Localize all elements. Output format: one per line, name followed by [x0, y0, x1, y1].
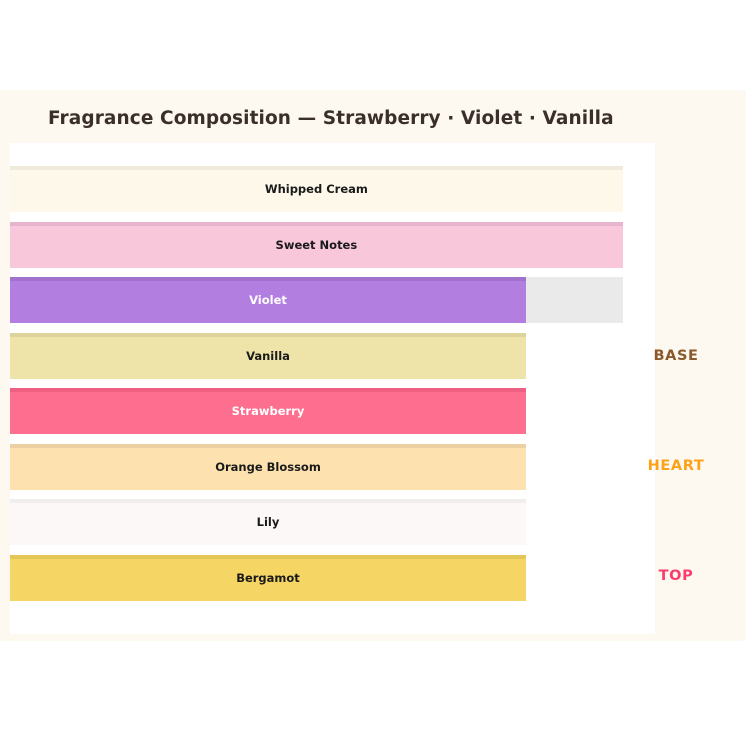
group-label-base: BASE — [653, 348, 698, 364]
bar-bergamot[interactable]: Bergamot — [10, 555, 526, 601]
group-label-top: TOP — [659, 568, 694, 584]
bar-row: Vanilla — [10, 333, 655, 379]
bar-violet[interactable]: Violet — [10, 277, 526, 323]
bar-vanilla[interactable]: Vanilla — [10, 333, 526, 379]
bar-row: Lily — [10, 499, 655, 545]
bar-lily[interactable]: Lily — [10, 499, 526, 545]
bar-sweet-notes[interactable]: Sweet Notes — [10, 222, 623, 268]
chart-figure: Fragrance Composition — Strawberry · Vio… — [0, 90, 746, 641]
bar-strawberry[interactable]: Strawberry — [10, 388, 526, 434]
bar-label: Orange Blossom — [10, 444, 526, 490]
group-label-heart: HEART — [648, 458, 705, 474]
bar-label: Lily — [10, 499, 526, 545]
bar-row: Whipped Cream — [10, 166, 655, 212]
bar-row: Violet — [10, 277, 655, 323]
bar-row: Strawberry — [10, 388, 655, 434]
bar-label: Sweet Notes — [10, 222, 623, 268]
bar-label: Whipped Cream — [10, 166, 623, 212]
bar-label: Strawberry — [10, 388, 526, 434]
chart-title: Fragrance Composition — Strawberry · Vio… — [48, 108, 614, 129]
bar-row: Bergamot — [10, 555, 655, 601]
bar-label: Vanilla — [10, 333, 526, 379]
bar-label: Bergamot — [10, 555, 526, 601]
bar-orange-blossom[interactable]: Orange Blossom — [10, 444, 526, 490]
plot-area: Whipped CreamSweet NotesVioletVanillaStr… — [10, 143, 655, 634]
bar-whipped-cream[interactable]: Whipped Cream — [10, 166, 623, 212]
bar-row: Orange Blossom — [10, 444, 655, 490]
bar-label: Violet — [10, 277, 526, 323]
bar-row: Sweet Notes — [10, 222, 655, 268]
